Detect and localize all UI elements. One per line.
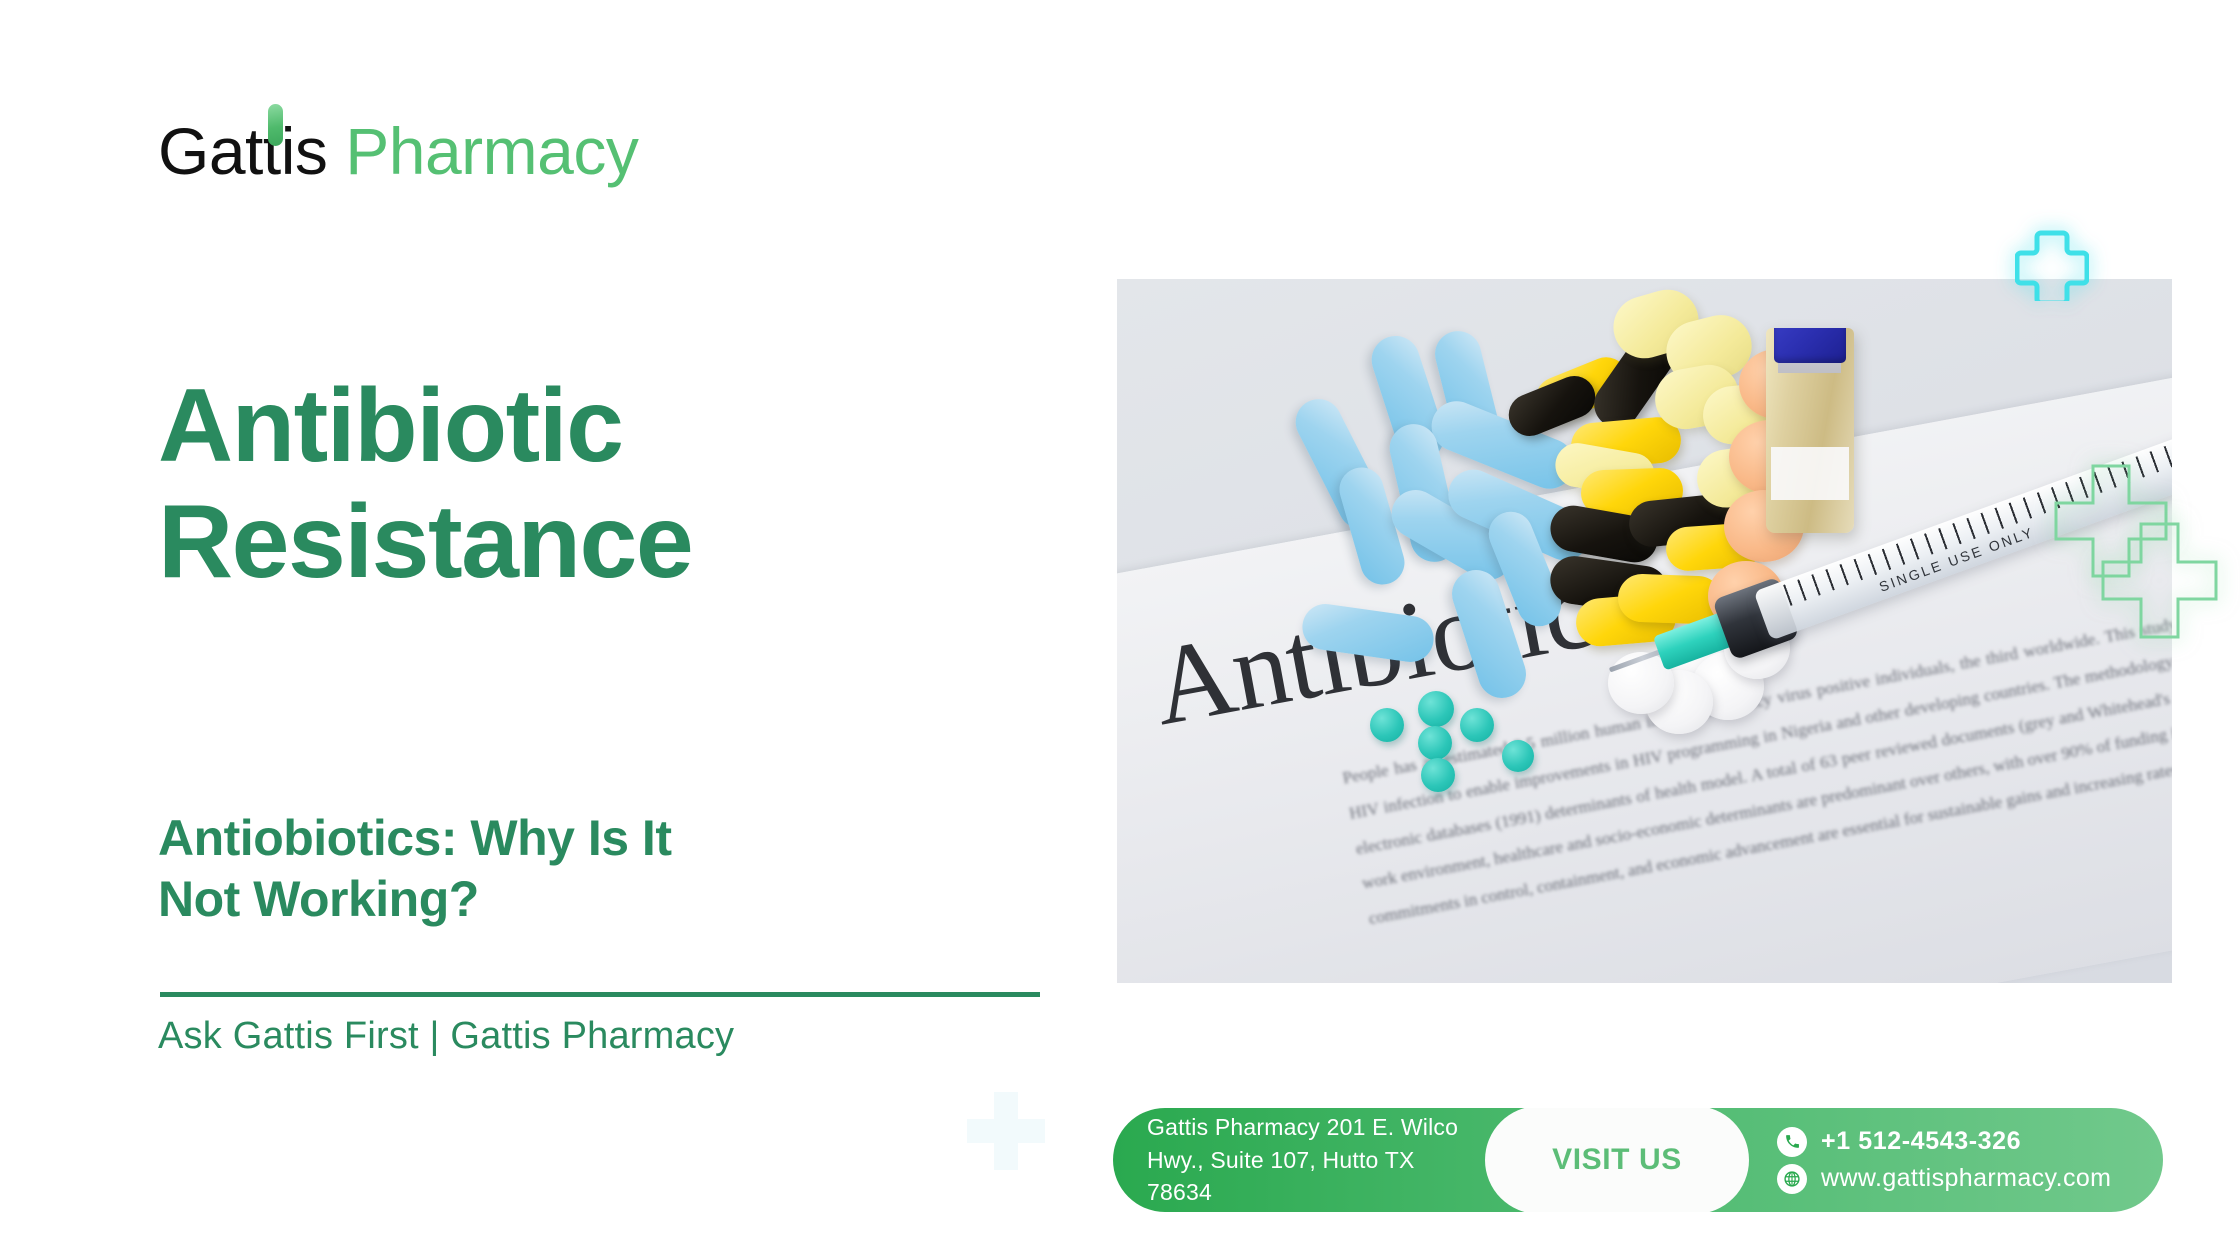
pill-blue-capsule [1299, 601, 1436, 665]
page-title-line-2: Resistance [158, 484, 958, 600]
vial-cap [1774, 328, 1846, 363]
contact-website-row[interactable]: www.gattispharmacy.com [1777, 1164, 2163, 1194]
visit-us-button[interactable]: VISIT US [1485, 1108, 1749, 1212]
contact-address-line-2: Hwy., Suite 107, Hutto TX 78634 [1147, 1144, 1485, 1209]
tagline: Ask Gattis First | Gattis Pharmacy [158, 1015, 734, 1058]
capsule-icon [268, 104, 283, 146]
medical-cross-icon [965, 1090, 1047, 1172]
pill-teal-round [1502, 740, 1534, 772]
hero-pill-cluster [1117, 279, 2172, 983]
visit-us-label: VISIT US [1552, 1143, 1682, 1177]
brand-logo-dark-text: Gattis [158, 114, 327, 188]
page-subtitle-line-1: Antiobiotics: Why Is It [158, 808, 988, 869]
contact-address-line-1: Gattis Pharmacy 201 E. Wilco [1147, 1111, 1485, 1144]
pill-teal-round [1370, 708, 1404, 742]
poster-canvas: Gattis Pharmacy Antibiotic Resistance An… [0, 0, 2240, 1260]
phone-icon [1777, 1127, 1807, 1157]
contact-address: Gattis Pharmacy 201 E. Wilco Hwy., Suite… [1113, 1108, 1485, 1212]
contact-phone-number: +1 512-4543-326 [1821, 1127, 2021, 1156]
hero-image: Antibiotics People has an estimated 3.5 … [1117, 279, 2172, 983]
contact-bar: Gattis Pharmacy 201 E. Wilco Hwy., Suite… [1113, 1108, 2163, 1212]
page-title-line-1: Antibiotic [158, 368, 958, 484]
medicine-vial [1766, 328, 1854, 533]
contact-phone-row[interactable]: +1 512-4543-326 [1777, 1127, 2163, 1157]
brand-logo-green-text: Pharmacy [327, 114, 638, 188]
contact-website-url: www.gattispharmacy.com [1821, 1164, 2111, 1193]
pill-teal-round [1418, 691, 1454, 727]
pill-teal-round [1418, 726, 1452, 760]
page-subtitle-line-2: Not Working? [158, 869, 988, 930]
vial-label [1771, 447, 1848, 500]
globe-icon [1777, 1164, 1807, 1194]
page-subtitle: Antiobiotics: Why Is It Not Working? [158, 808, 988, 930]
page-title: Antibiotic Resistance [158, 368, 958, 601]
pill-teal-round [1460, 708, 1494, 742]
brand-logo[interactable]: Gattis Pharmacy [158, 118, 638, 184]
pill-teal-round [1421, 758, 1455, 792]
contact-details: +1 512-4543-326 www.gattispharmacy.com [1749, 1108, 2163, 1212]
divider-rule [160, 992, 1040, 997]
